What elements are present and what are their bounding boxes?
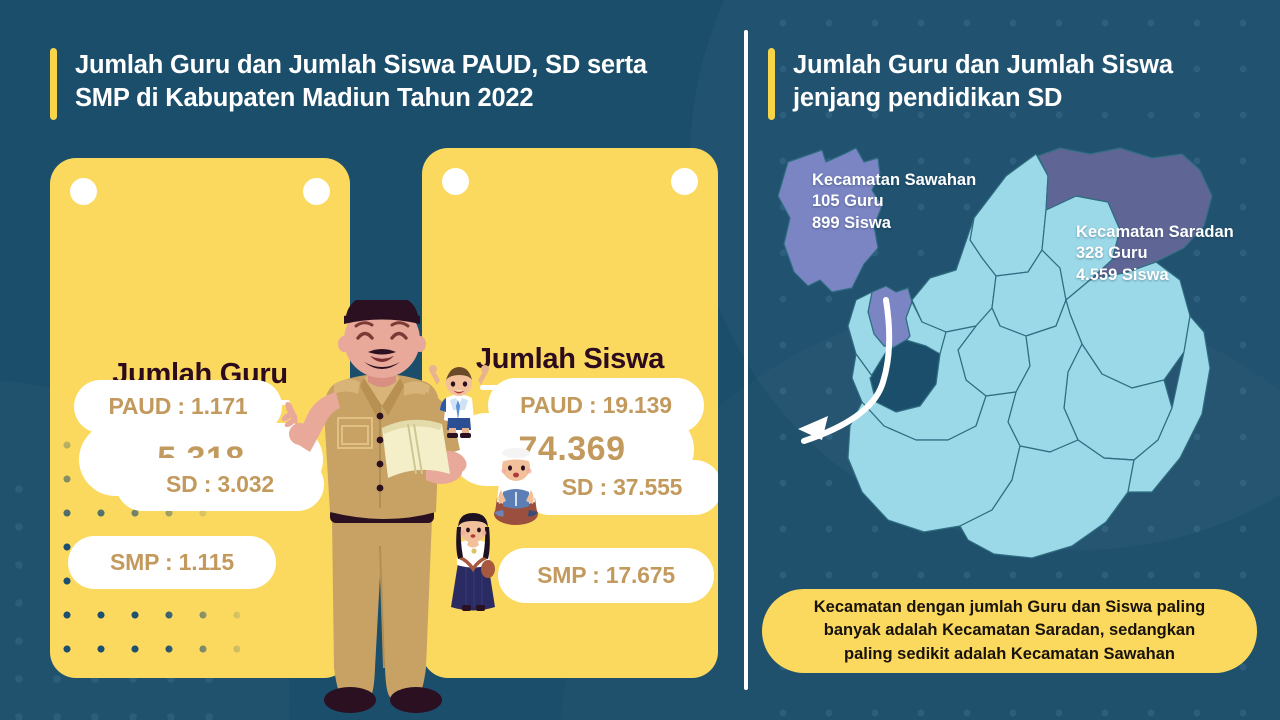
right-panel-title: Jumlah Guru dan Jumlah Siswa jenjang pen…	[768, 48, 1173, 120]
card-siswa-breakdown-paud: PAUD : 19.139	[488, 378, 704, 433]
title-accent-bar	[768, 48, 775, 120]
map-caption: Kecamatan dengan jumlah Guru dan Siswa p…	[762, 589, 1257, 673]
card-guru-breakdown-paud: PAUD : 1.171	[74, 380, 282, 433]
title-accent-bar	[50, 48, 57, 120]
map-label-sawahan: Kecamatan Sawahan 105 Guru 899 Siswa	[812, 170, 976, 234]
panel-divider	[744, 30, 748, 690]
student-paud-illustration	[428, 358, 490, 438]
card-guru-breakdown-smp: SMP : 1.115	[68, 536, 276, 589]
left-panel-title-text: Jumlah Guru dan Jumlah Siswa PAUD, SD se…	[75, 48, 647, 120]
right-panel-title-text: Jumlah Guru dan Jumlah Siswa jenjang pen…	[793, 48, 1173, 120]
left-panel-title: Jumlah Guru dan Jumlah Siswa PAUD, SD se…	[50, 48, 647, 120]
map-label-saradan: Kecamatan Saradan 328 Guru 4.559 Siswa	[1076, 222, 1234, 286]
student-smp-illustration	[444, 505, 502, 615]
card-siswa-breakdown-sd: SD : 37.555	[522, 460, 718, 515]
card-siswa-breakdown-smp: SMP : 17.675	[498, 548, 714, 603]
